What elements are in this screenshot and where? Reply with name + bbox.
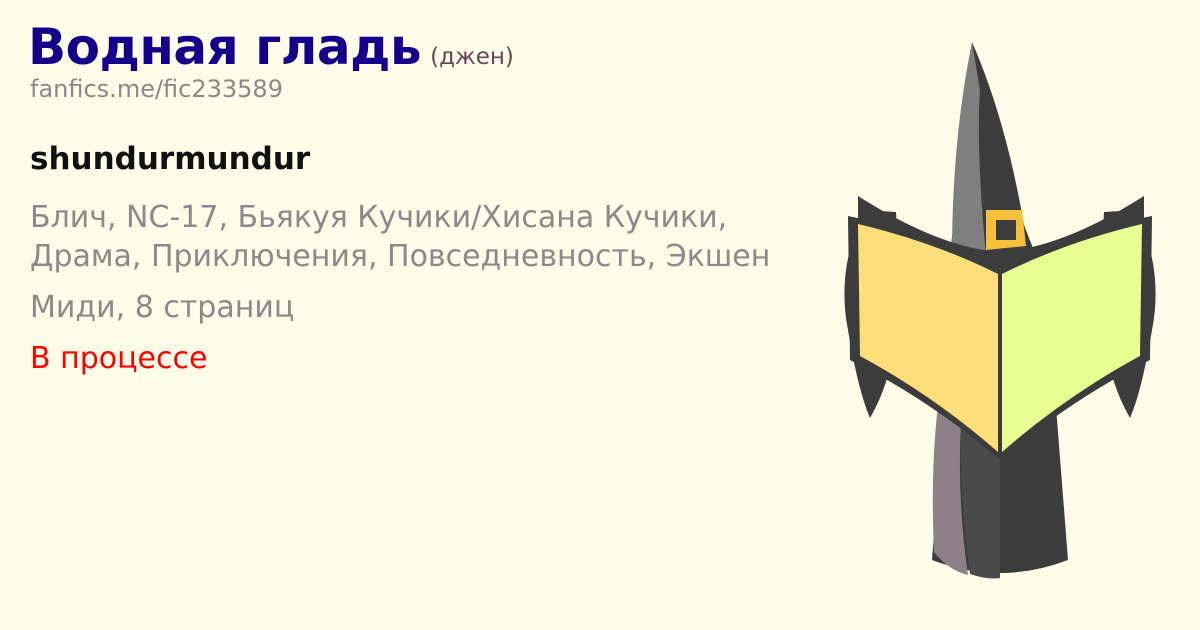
fandom-tags: Блич, NC-17, Бьякуя Кучики/Хисана Кучики… (30, 198, 818, 276)
status-badge: В процессе (30, 339, 818, 378)
illustration-witch-reading-book (800, 0, 1200, 630)
book-center-crease (998, 272, 1002, 456)
metadata-block: Блич, NC-17, Бьякуя Кучики/Хисана Кучики… (30, 198, 818, 378)
page-title: Водная гладь(джен) (28, 22, 818, 72)
author-name[interactable]: shundurmundur (30, 142, 818, 176)
fanfic-preview-card: Водная гладь(джен) fanfics.me/fic233589 … (0, 0, 1200, 630)
title-text: Водная гладь (28, 18, 421, 76)
text-column: Водная гладь(джен) fanfics.me/fic233589 … (28, 22, 818, 378)
size-pages: Миди, 8 страниц (30, 288, 818, 327)
source-url[interactable]: fanfics.me/fic233589 (30, 76, 818, 102)
title-category: (джен) (430, 44, 514, 70)
hat-buckle-inner (996, 220, 1016, 240)
